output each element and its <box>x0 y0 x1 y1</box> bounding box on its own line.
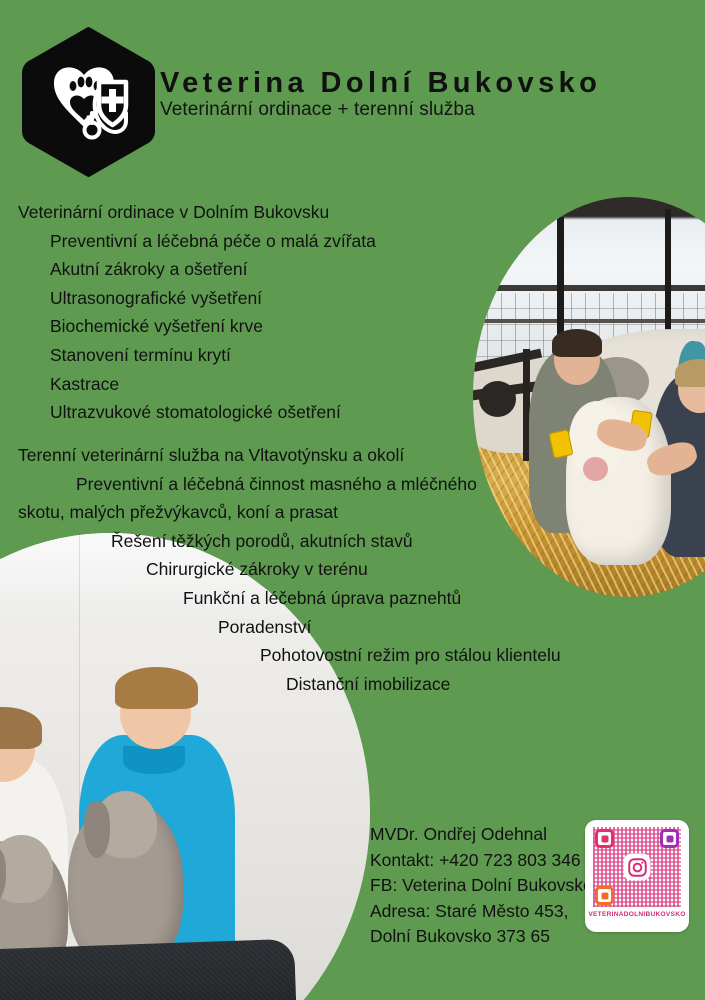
contact-address-line-2: Dolní Bukovsko 373 65 <box>370 924 593 950</box>
puppy-head <box>0 835 53 902</box>
page-subtitle: Veterinární ordinace + terenní služba <box>160 99 700 121</box>
list-item: Stanovení termínu krytí <box>50 341 488 370</box>
qr-label: VETERINADOLNIBUKOVSKO <box>588 911 685 918</box>
qr-finder-bottom-left <box>595 886 614 905</box>
list-item: Řešení těžkých porodů, akutních stavů <box>111 527 618 556</box>
person-man-collar <box>123 746 185 774</box>
list-item: Ultrazvukové stomatologické ošetření <box>50 398 488 427</box>
logo-hexagon <box>22 27 155 177</box>
list-item: Akutní zákroky a ošetření <box>50 255 488 284</box>
list-item: Preventivní a léčebná péče o malá zvířat… <box>50 227 488 256</box>
exam-table <box>0 939 300 1000</box>
contact-block: MVDr. Ondřej Odehnal Kontakt: +420 723 8… <box>370 822 593 950</box>
contact-address-line-1: Adresa: Staré Město 453, <box>370 899 593 925</box>
list-item: Chirurgické zákroky v terénu <box>146 555 618 584</box>
field-services-block: Terenní veterinární služba na Vltavotýns… <box>18 441 618 698</box>
instagram-qr-card[interactable]: VETERINADOLNIBUKOVSKO <box>585 820 689 932</box>
list-item: Pohotovostní režim pro stálou klientelu <box>260 641 618 670</box>
qr-finder-top-right <box>660 829 679 848</box>
qr-finder-top-left <box>595 829 614 848</box>
instagram-icon <box>624 854 651 881</box>
poster-canvas: Veterina Dolní Bukovsko Veterinární ordi… <box>0 0 705 1000</box>
list-item: Biochemické vyšetření krve <box>50 312 488 341</box>
qr-code[interactable] <box>593 827 681 907</box>
field-heading: Terenní veterinární služba na Vltavotýns… <box>18 441 618 470</box>
list-item: Ultrasonografické vyšetření <box>50 284 488 313</box>
list-item: Preventivní a léčebná činnost masného a … <box>76 470 618 499</box>
contact-phone[interactable]: Kontakt: +420 723 803 346 <box>370 848 593 874</box>
puppy-ear <box>84 802 110 858</box>
list-item: Funkční a léčebná úprava paznehtů <box>183 584 618 613</box>
clinic-heading: Veterinární ordinace v Dolním Bukovsku <box>18 198 488 227</box>
contact-facebook[interactable]: FB: Veterina Dolní Bukovsko <box>370 873 593 899</box>
page-title: Veterina Dolní Bukovsko <box>160 68 700 98</box>
list-item: skotu, malých přežvýkavců, koní a prasat <box>18 498 618 527</box>
brand-header: Veterina Dolní Bukovsko Veterinární ordi… <box>160 68 700 121</box>
list-item: Distanční imobilizace <box>286 670 618 699</box>
clinic-services-block: Veterinární ordinace v Dolním Bukovsku P… <box>18 198 488 427</box>
list-item: Kastrace <box>50 370 488 399</box>
list-item: Poradenství <box>218 613 618 642</box>
contact-name: MVDr. Ondřej Odehnal <box>370 822 593 848</box>
person-man-hair <box>552 329 602 357</box>
